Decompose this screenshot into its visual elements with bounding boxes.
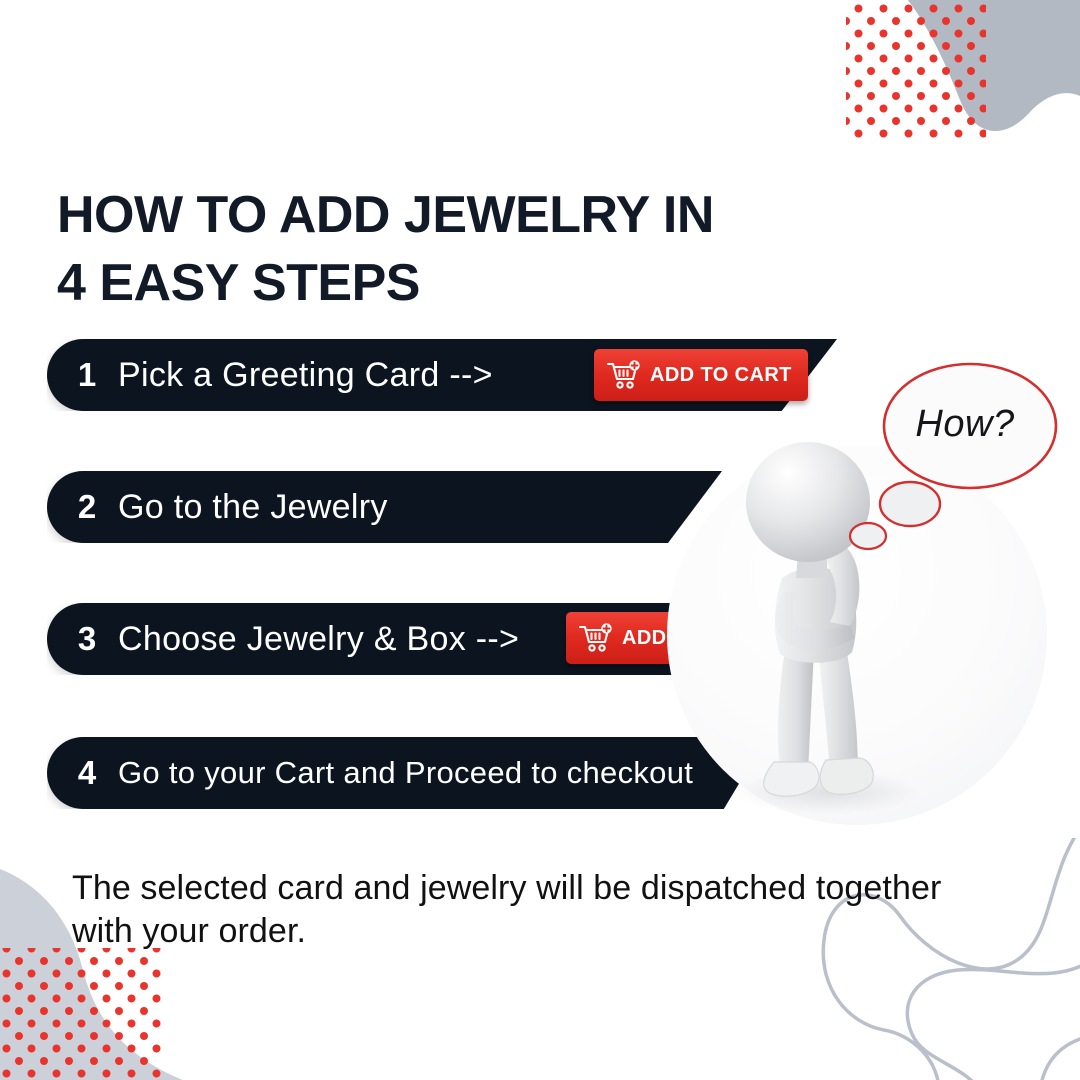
step-label-3: Choose Jewelry & Box --> (118, 620, 519, 659)
top-right-decoration (790, 0, 1080, 210)
step-content-3: 3 Choose Jewelry & Box --> (47, 603, 519, 675)
shopping-cart-plus-icon (606, 359, 642, 391)
page-title-line-2: 4 EASY STEPS (57, 249, 957, 318)
step-content-2: 2 Go to the Jewelry (47, 471, 388, 543)
step-label-1: Pick a Greeting Card --> (118, 356, 493, 395)
add-to-cart-button-1[interactable]: ADD TO CART (594, 349, 808, 401)
thought-bubble-text: How? (900, 403, 1030, 446)
step-number-3: 3 (74, 620, 100, 658)
infographic-canvas: HOW TO ADD JEWELRY IN 4 EASY STEPS 1 Pic… (0, 0, 1080, 1080)
step-number-2: 2 (74, 488, 100, 526)
add-to-cart-label-1: ADD TO CART (650, 364, 792, 387)
step-label-2: Go to the Jewelry (118, 488, 388, 527)
step-content-4: 4 Go to your Cart and Proceed to checkou… (47, 737, 693, 809)
step-number-4: 4 (74, 754, 100, 792)
thought-bubble (848, 352, 1068, 552)
step-row-4: 4 Go to your Cart and Proceed to checkou… (47, 737, 767, 809)
step-row-2: 2 Go to the Jewelry (47, 471, 722, 543)
shopping-cart-plus-icon (578, 622, 614, 654)
page-title: HOW TO ADD JEWELRY IN 4 EASY STEPS (57, 181, 957, 318)
step-label-4: Go to your Cart and Proceed to checkout (118, 755, 693, 791)
step-content-1: 1 Pick a Greeting Card --> (47, 339, 493, 411)
footer-note: The selected card and jewelry will be di… (72, 867, 982, 953)
step-number-1: 1 (74, 356, 100, 394)
page-title-line-1: HOW TO ADD JEWELRY IN (57, 181, 957, 250)
